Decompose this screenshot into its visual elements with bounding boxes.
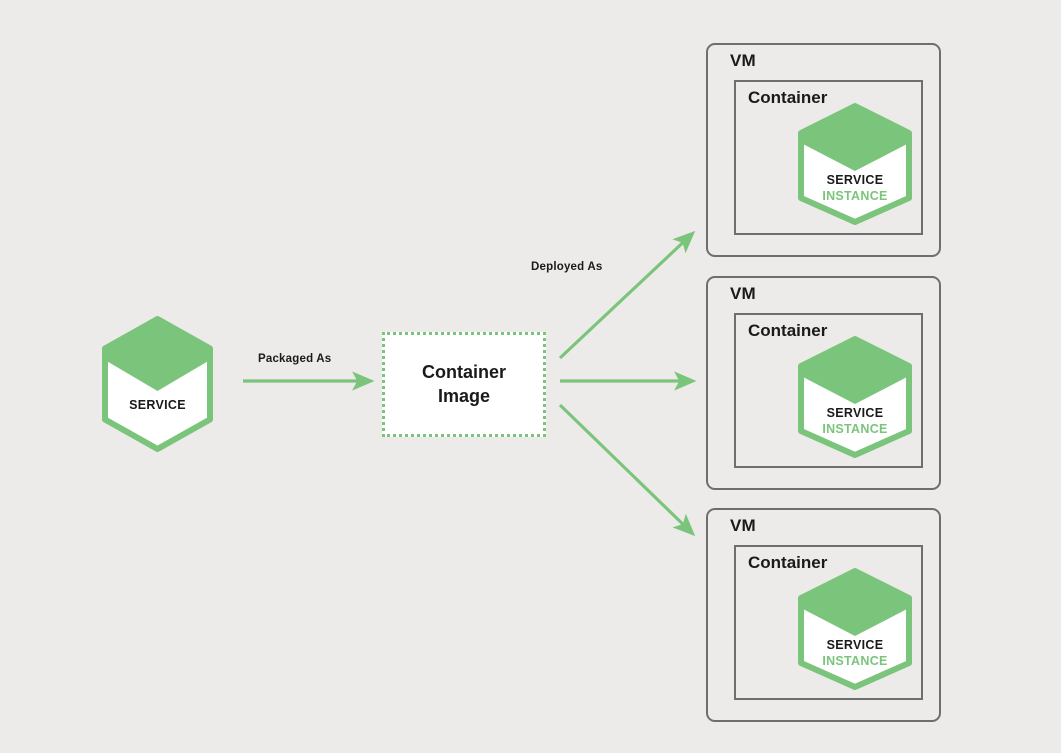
diagram-canvas: SERVICE Packaged As Container Image Depl… [0, 0, 1061, 753]
service-instance-hexagon-1: SERVICE INSTANCE [795, 103, 915, 225]
vm-box-1: VM Container SERVICE INSTANCE [706, 43, 941, 257]
service-hexagon: SERVICE [99, 316, 216, 452]
container-box-3: Container SERVICE INSTANCE [734, 545, 923, 700]
vm-box-3: VM Container SERVICE INSTANCE [706, 508, 941, 722]
service-instance-hexagon-3: SERVICE INSTANCE [795, 568, 915, 690]
vm-label-3: VM [730, 516, 756, 536]
container-image-box: Container Image [382, 332, 546, 437]
vm-label-1: VM [730, 51, 756, 71]
edge-label-packaged-as: Packaged As [258, 353, 331, 365]
container-image-label: Container Image [422, 361, 506, 408]
vm-label-2: VM [730, 284, 756, 304]
vm-box-2: VM Container SERVICE INSTANCE [706, 276, 941, 490]
service-instance-hexagon-2: SERVICE INSTANCE [795, 336, 915, 458]
arrow-deployed-as-top [560, 234, 692, 358]
edge-label-deployed-as: Deployed As [531, 261, 602, 273]
arrow-deployed-as-bottom [560, 405, 692, 533]
container-box-1: Container SERVICE INSTANCE [734, 80, 923, 235]
container-box-2: Container SERVICE INSTANCE [734, 313, 923, 468]
